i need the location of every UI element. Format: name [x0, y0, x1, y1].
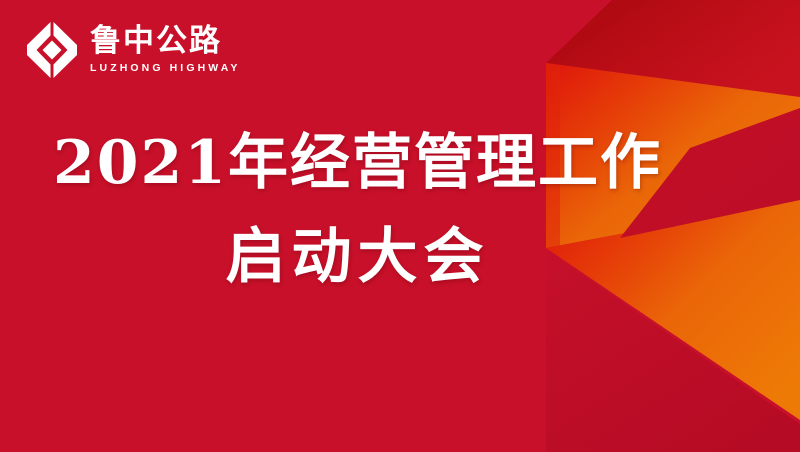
logo-english-name: LUZHONG HIGHWAY: [90, 63, 241, 74]
event-banner: 鲁中公路 LUZHONG HIGHWAY 2021年经营管理工作 启动大会: [0, 0, 800, 452]
luzhong-highway-logo: 鲁中公路 LUZHONG HIGHWAY: [26, 22, 241, 78]
title-line-2: 启动大会: [0, 218, 715, 296]
banner-title: 2021年经营管理工作 启动大会: [0, 124, 715, 296]
ribbon-top-dark-facet: [546, 0, 800, 97]
logo-chinese-name: 鲁中公路: [90, 26, 241, 57]
luzhong-diamond-mark-icon: [26, 22, 78, 78]
title-line-1: 2021年经营管理工作: [0, 124, 715, 202]
